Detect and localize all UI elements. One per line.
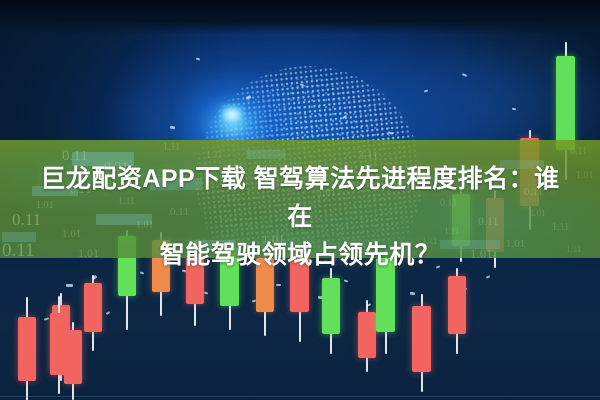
candlestick-body (358, 312, 376, 358)
background-top-vignette (0, 0, 600, 34)
candlestick-body (84, 283, 102, 332)
candlestick-body (64, 330, 82, 384)
globe-glow-core (219, 104, 245, 126)
candlestick (358, 300, 376, 372)
candlestick-body (322, 278, 340, 334)
candlestick-body (556, 56, 575, 150)
speck (512, 108, 516, 110)
candlestick (448, 268, 466, 354)
candlestick (322, 268, 340, 354)
page-title-line-2: 智能驾驶领域占领先机？ (28, 236, 572, 274)
speck (276, 284, 281, 286)
band-bar (246, 150, 286, 159)
page-title-line-1: 巨龙配资APP下载 智驾算法先进程度排名：谁在 (28, 160, 572, 236)
band-number: 0.11 (570, 146, 587, 157)
candlestick (412, 294, 431, 392)
page-title: 巨龙配资APP下载 智驾算法先进程度排名：谁在 智能驾驶领域占领先机？ (0, 160, 600, 274)
candlestick (18, 297, 36, 400)
bottom-divider (0, 396, 600, 397)
candlestick-body (412, 306, 431, 372)
banner-image: 0.111.110.110.111.011.010.211.010.211.11… (0, 0, 600, 400)
candlestick-body (448, 276, 466, 334)
candlestick-body (18, 317, 36, 381)
candlestick (84, 275, 102, 351)
band-number: 1.11 (163, 142, 180, 153)
speck (66, 284, 73, 287)
candlestick (64, 322, 82, 400)
